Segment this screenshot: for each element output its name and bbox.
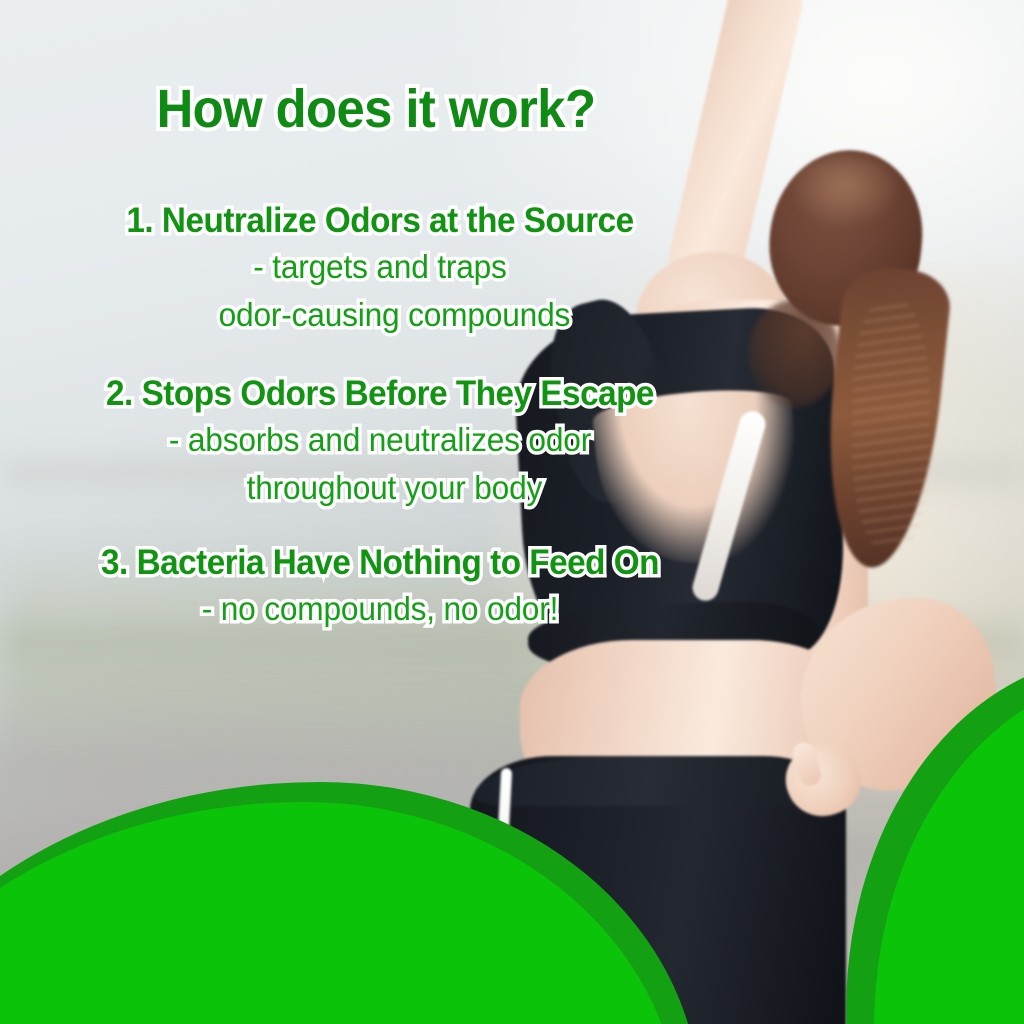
step-heading-text: Bacteria Have Nothing to Feed On: [137, 543, 659, 582]
list-item: 3. Bacteria Have Nothing to Feed On - no…: [0, 542, 760, 633]
list-item: 1. Neutralize Odors at the Source - targ…: [0, 200, 760, 339]
step-subline: - absorbs and neutralizes odor: [15, 416, 745, 464]
step-subline: odor-causing compounds: [15, 291, 745, 339]
steps-list: 1. Neutralize Odors at the Source - targ…: [0, 200, 760, 659]
step-heading: 1. Neutralize Odors at the Source: [19, 200, 741, 243]
text-overlay: How does it work? 1. Neutralize Odors at…: [0, 0, 1024, 1024]
step-number: 2.: [106, 374, 133, 413]
promo-poster: How does it work? 1. Neutralize Odors at…: [0, 0, 1024, 1024]
step-heading-text: Stops Odors Before They Escape: [142, 374, 654, 413]
step-subline: throughout your body: [15, 464, 745, 512]
step-number: 3.: [101, 543, 128, 582]
step-number: 1.: [126, 201, 153, 240]
step-subline: - targets and traps: [15, 243, 745, 291]
step-heading: 3. Bacteria Have Nothing to Feed On: [19, 542, 741, 585]
page-title: How does it work?: [23, 78, 730, 140]
list-item: 2. Stops Odors Before They Escape - abso…: [0, 373, 760, 512]
step-subline: - no compounds, no odor!: [15, 585, 745, 633]
step-heading-text: Neutralize Odors at the Source: [162, 201, 634, 240]
step-heading: 2. Stops Odors Before They Escape: [19, 373, 741, 416]
